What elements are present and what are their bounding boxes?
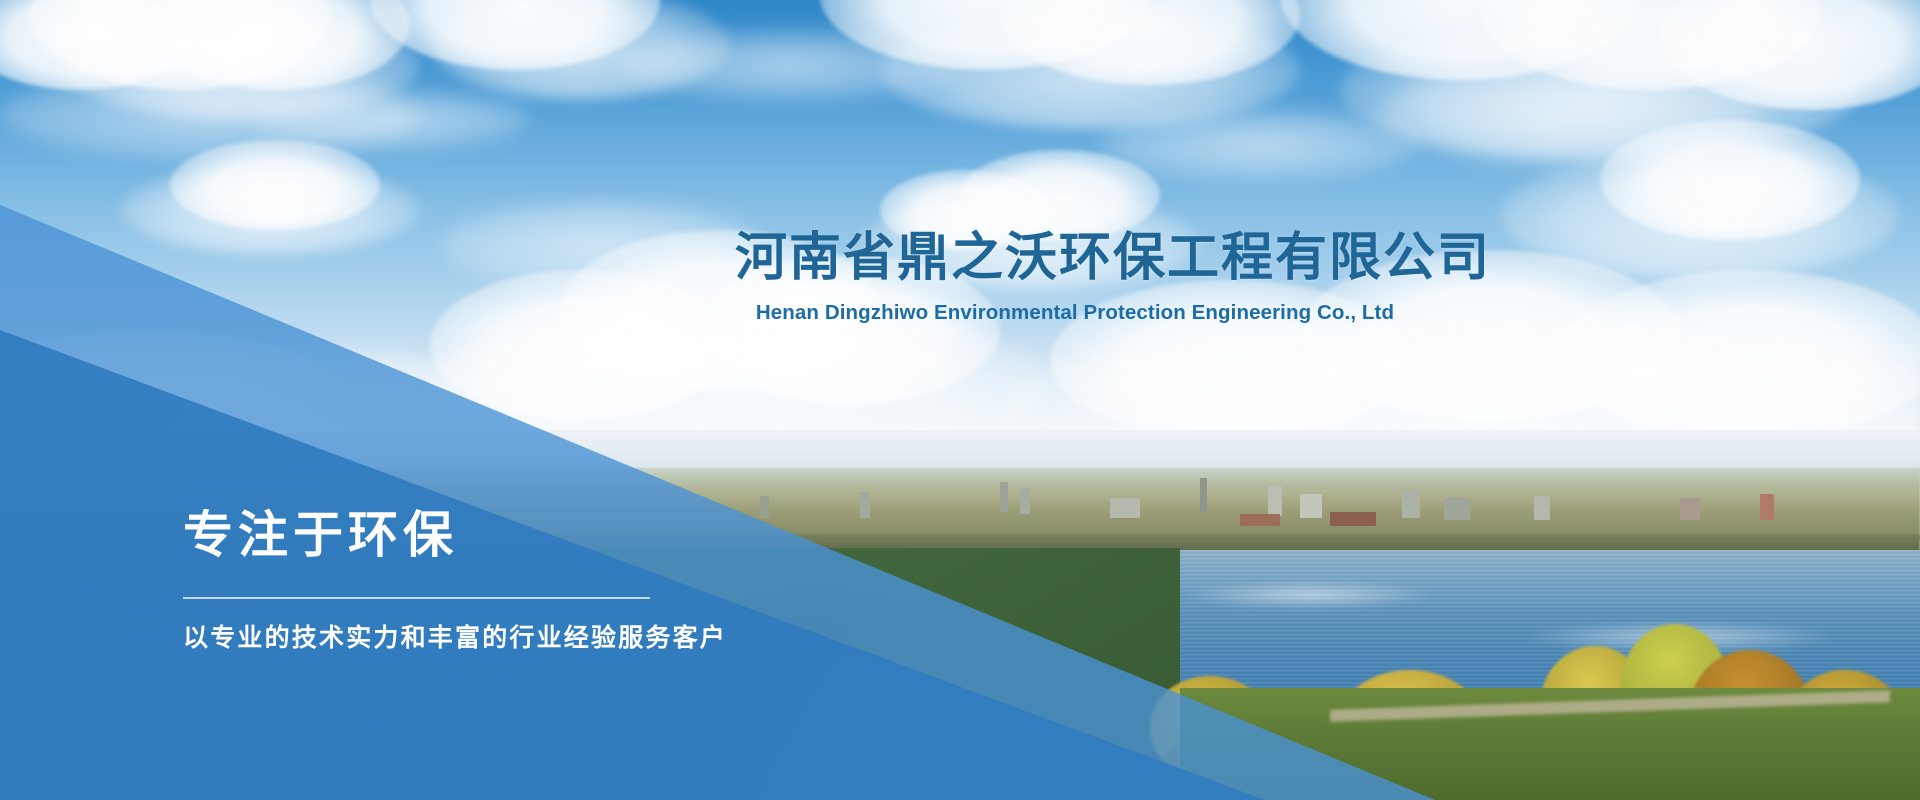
slogan-block: 专注于环保 以专业的技术实力和丰富的行业经验服务客户 bbox=[183, 508, 943, 654]
company-name-cn: 河南省鼎之沃环保工程有限公司 bbox=[735, 228, 1415, 289]
company-name-en: Henan Dingzhiwo Environmental Protection… bbox=[735, 301, 1415, 325]
company-name-block: 河南省鼎之沃环保工程有限公司 Henan Dingzhiwo Environme… bbox=[735, 228, 1415, 325]
slogan-divider bbox=[183, 597, 650, 599]
slogan-subline: 以专业的技术实力和丰富的行业经验服务客户 bbox=[183, 618, 943, 654]
slogan-headline: 专注于环保 bbox=[183, 508, 943, 563]
hero-banner: 河南省鼎之沃环保工程有限公司 Henan Dingzhiwo Environme… bbox=[0, 0, 1920, 800]
